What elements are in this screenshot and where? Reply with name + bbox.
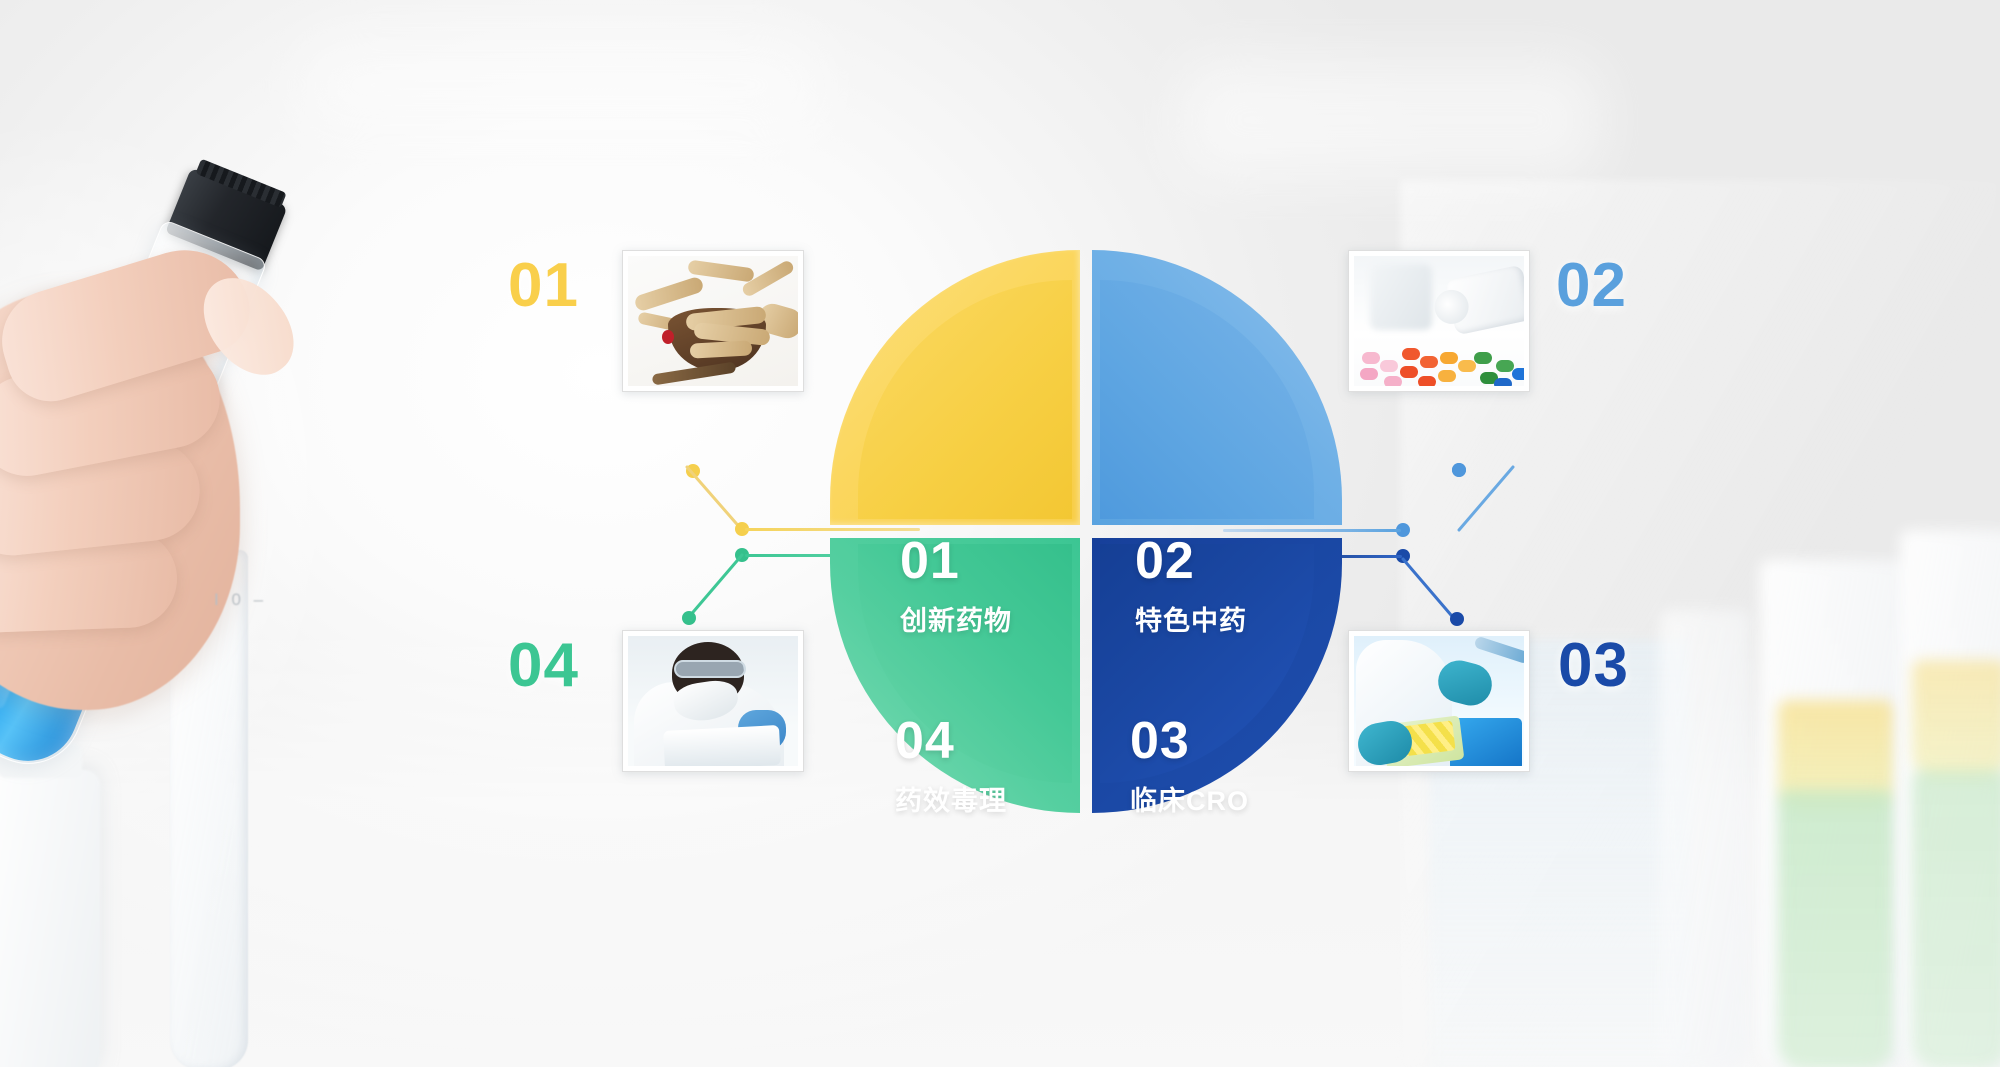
pipette (1474, 636, 1524, 664)
pill-bottle (1445, 265, 1524, 336)
connector-right-bottom-endpoint-dot (1450, 612, 1464, 626)
quadrant-02[interactable] (1092, 250, 1342, 525)
quadrant-infographic: 01 创新药物 02 特色中药 03 临床CRO 04 药效毒理 (0, 0, 2000, 1067)
quadrant-01[interactable] (830, 250, 1080, 525)
corner-number-01: 01 (508, 250, 579, 321)
connector-right-top-endpoint-dot-2 (1452, 463, 1466, 477)
researcher-photo-icon (628, 636, 798, 766)
corner-number-03: 03 (1558, 630, 1629, 701)
colored-pills-photo-icon (1354, 256, 1524, 386)
corner-number-04: 04 (508, 630, 579, 701)
quadrant-circle (830, 250, 1350, 820)
quadrant-02-inner (1100, 280, 1314, 519)
infographic-stage: I 0 – (0, 0, 2000, 1067)
safety-goggles-icon (674, 660, 746, 678)
thumbnail-02[interactable] (1348, 250, 1530, 392)
thumbnail-04[interactable] (622, 630, 804, 772)
quadrant-04-inner (858, 544, 1072, 783)
clinical-lab-photo-icon (1354, 636, 1524, 766)
connector-left-bottom-endpoint-dot (682, 611, 696, 625)
thumbnail-03[interactable] (1348, 630, 1530, 772)
quadrant-03-inner (1100, 544, 1314, 783)
red-berry (662, 330, 674, 344)
sample-plate (663, 725, 781, 766)
quadrant-01-inner (858, 280, 1072, 519)
quadrant-03[interactable] (1092, 538, 1342, 813)
herbal-medicine-photo-icon (628, 256, 798, 386)
thumbnail-01[interactable] (622, 250, 804, 392)
quadrant-04[interactable] (830, 538, 1080, 813)
blurred-jar (1370, 264, 1432, 330)
corner-number-02: 02 (1556, 250, 1627, 321)
